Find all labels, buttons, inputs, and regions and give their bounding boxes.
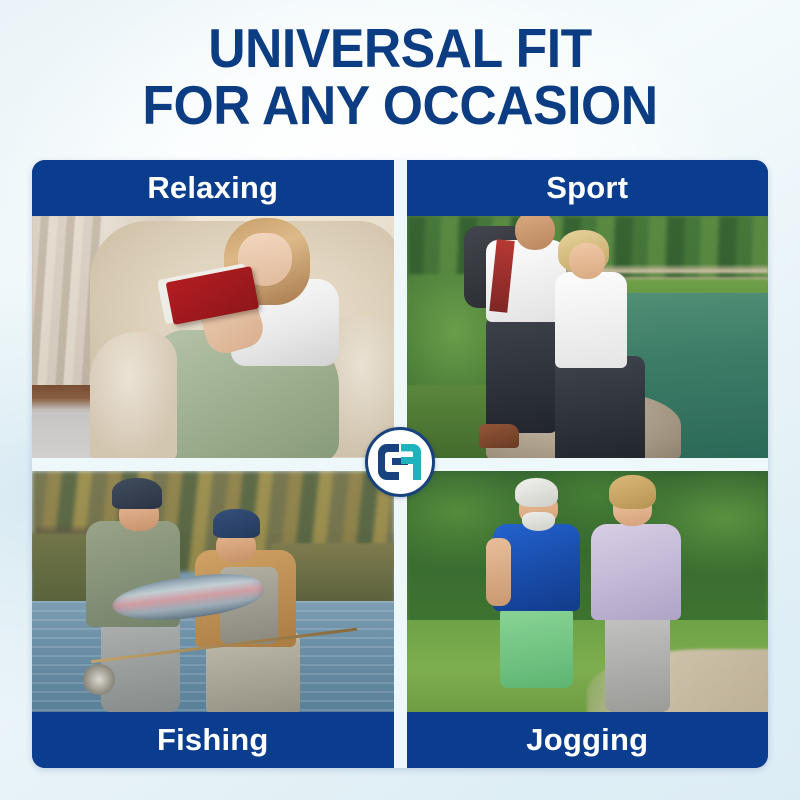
jogger-woman-hair [609, 475, 656, 509]
jogger-man-shorts [500, 606, 572, 688]
title-line-1: UNIVERSAL FIT [24, 20, 776, 77]
hiker-woman-tank-top [555, 272, 627, 369]
jogger-man-beard [522, 512, 555, 531]
angler-two-beanie [213, 509, 260, 538]
jogger-woman-trousers [605, 611, 670, 712]
panel-sport[interactable]: Sport [407, 160, 769, 458]
angler-one-beanie [112, 478, 163, 509]
title-line-2: FOR ANY OCCASION [24, 77, 776, 134]
panel-photo-fishing [32, 471, 394, 713]
hiker-man-head [515, 216, 555, 250]
panel-photo-relaxing [32, 216, 394, 458]
hiker-man-boot [479, 424, 519, 448]
jogger-woman-lavender-top [591, 524, 681, 621]
panel-photo-jogging [407, 471, 769, 713]
hiker-woman-trousers [555, 356, 645, 457]
panel-jogging[interactable]: Jogging [407, 471, 769, 769]
panel-label-relaxing: Relaxing [32, 160, 394, 216]
panel-fishing[interactable]: Fishing [32, 471, 394, 769]
jogger-man-arm [486, 538, 511, 606]
panel-photo-sport [407, 216, 769, 458]
armchair-left-arm [90, 332, 177, 458]
fly-reel [83, 664, 116, 695]
panel-label-fishing: Fishing [32, 712, 394, 768]
hiker-man-trousers [486, 317, 558, 433]
panel-label-sport: Sport [407, 160, 769, 216]
jogger-man-hair [515, 478, 558, 507]
brand-logo-icon [365, 427, 435, 497]
hiker-woman-face [569, 243, 605, 279]
park-tree-line [407, 471, 769, 630]
panel-label-jogging: Jogging [407, 712, 769, 768]
poster-title: UNIVERSAL FIT FOR ANY OCCASION [0, 20, 800, 134]
panel-relaxing[interactable]: Relaxing [32, 160, 394, 458]
poster-canvas: UNIVERSAL FIT FOR ANY OCCASION Relaxing [0, 0, 800, 800]
